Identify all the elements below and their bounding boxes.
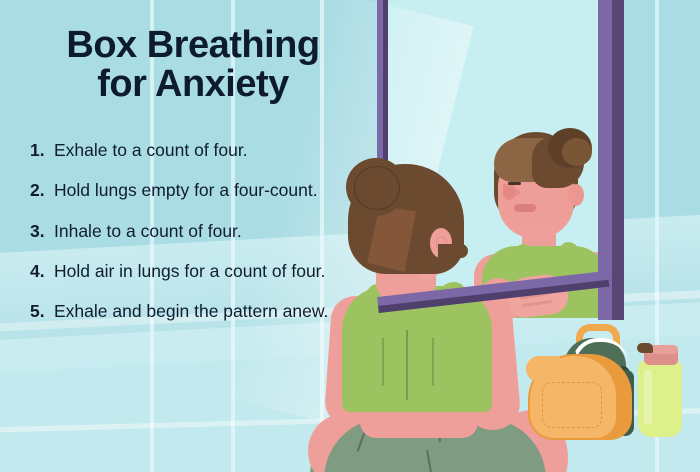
list-item: 3.Inhale to a count of four.	[30, 221, 350, 241]
water-bottle	[638, 345, 682, 437]
title-line-2: for Anxiety	[28, 65, 358, 104]
reflection-hair-bun-highlight	[562, 138, 592, 166]
spine-crease-line	[406, 330, 408, 400]
page-title: Box Breathing for Anxiety	[28, 26, 358, 104]
bottle-cap-tab	[637, 343, 653, 353]
step-text: Hold air in lungs for a count of four.	[54, 261, 325, 281]
backpack-pocket-stitch	[542, 382, 602, 428]
bottle-highlight	[644, 369, 652, 425]
step-text: Hold lungs empty for a four-count.	[54, 180, 318, 200]
step-number: 4.	[30, 261, 45, 281]
step-number: 2.	[30, 180, 45, 200]
top-fold-line	[432, 338, 434, 386]
mirror-frame-shadow	[612, 0, 624, 320]
step-number: 5.	[30, 301, 45, 321]
step-text: Inhale to a count of four.	[54, 221, 242, 241]
step-text: Exhale and begin the pattern anew.	[54, 301, 328, 321]
list-item: 4.Hold air in lungs for a count of four.	[30, 261, 350, 281]
step-number: 1.	[30, 140, 45, 160]
hair-bun-line	[354, 166, 400, 210]
text-column: Box Breathing for Anxiety 1.Exhale to a …	[0, 0, 360, 472]
list-item: 2.Hold lungs empty for a four-count.	[30, 180, 350, 200]
backpack-flap	[526, 356, 560, 382]
top-fold-line	[382, 338, 384, 386]
list-item: 5.Exhale and begin the pattern anew.	[30, 301, 350, 321]
step-number: 3.	[30, 221, 45, 241]
reflection-ear	[568, 184, 584, 206]
step-text: Exhale to a count of four.	[54, 140, 248, 160]
infographic-root: Box Breathing for Anxiety 1.Exhale to a …	[0, 0, 700, 472]
list-item: 1.Exhale to a count of four.	[30, 140, 350, 160]
hair-lock	[438, 244, 468, 258]
title-line-1: Box Breathing	[28, 26, 358, 65]
backpack	[528, 326, 648, 444]
steps-list: 1.Exhale to a count of four.2.Hold lungs…	[30, 140, 350, 341]
